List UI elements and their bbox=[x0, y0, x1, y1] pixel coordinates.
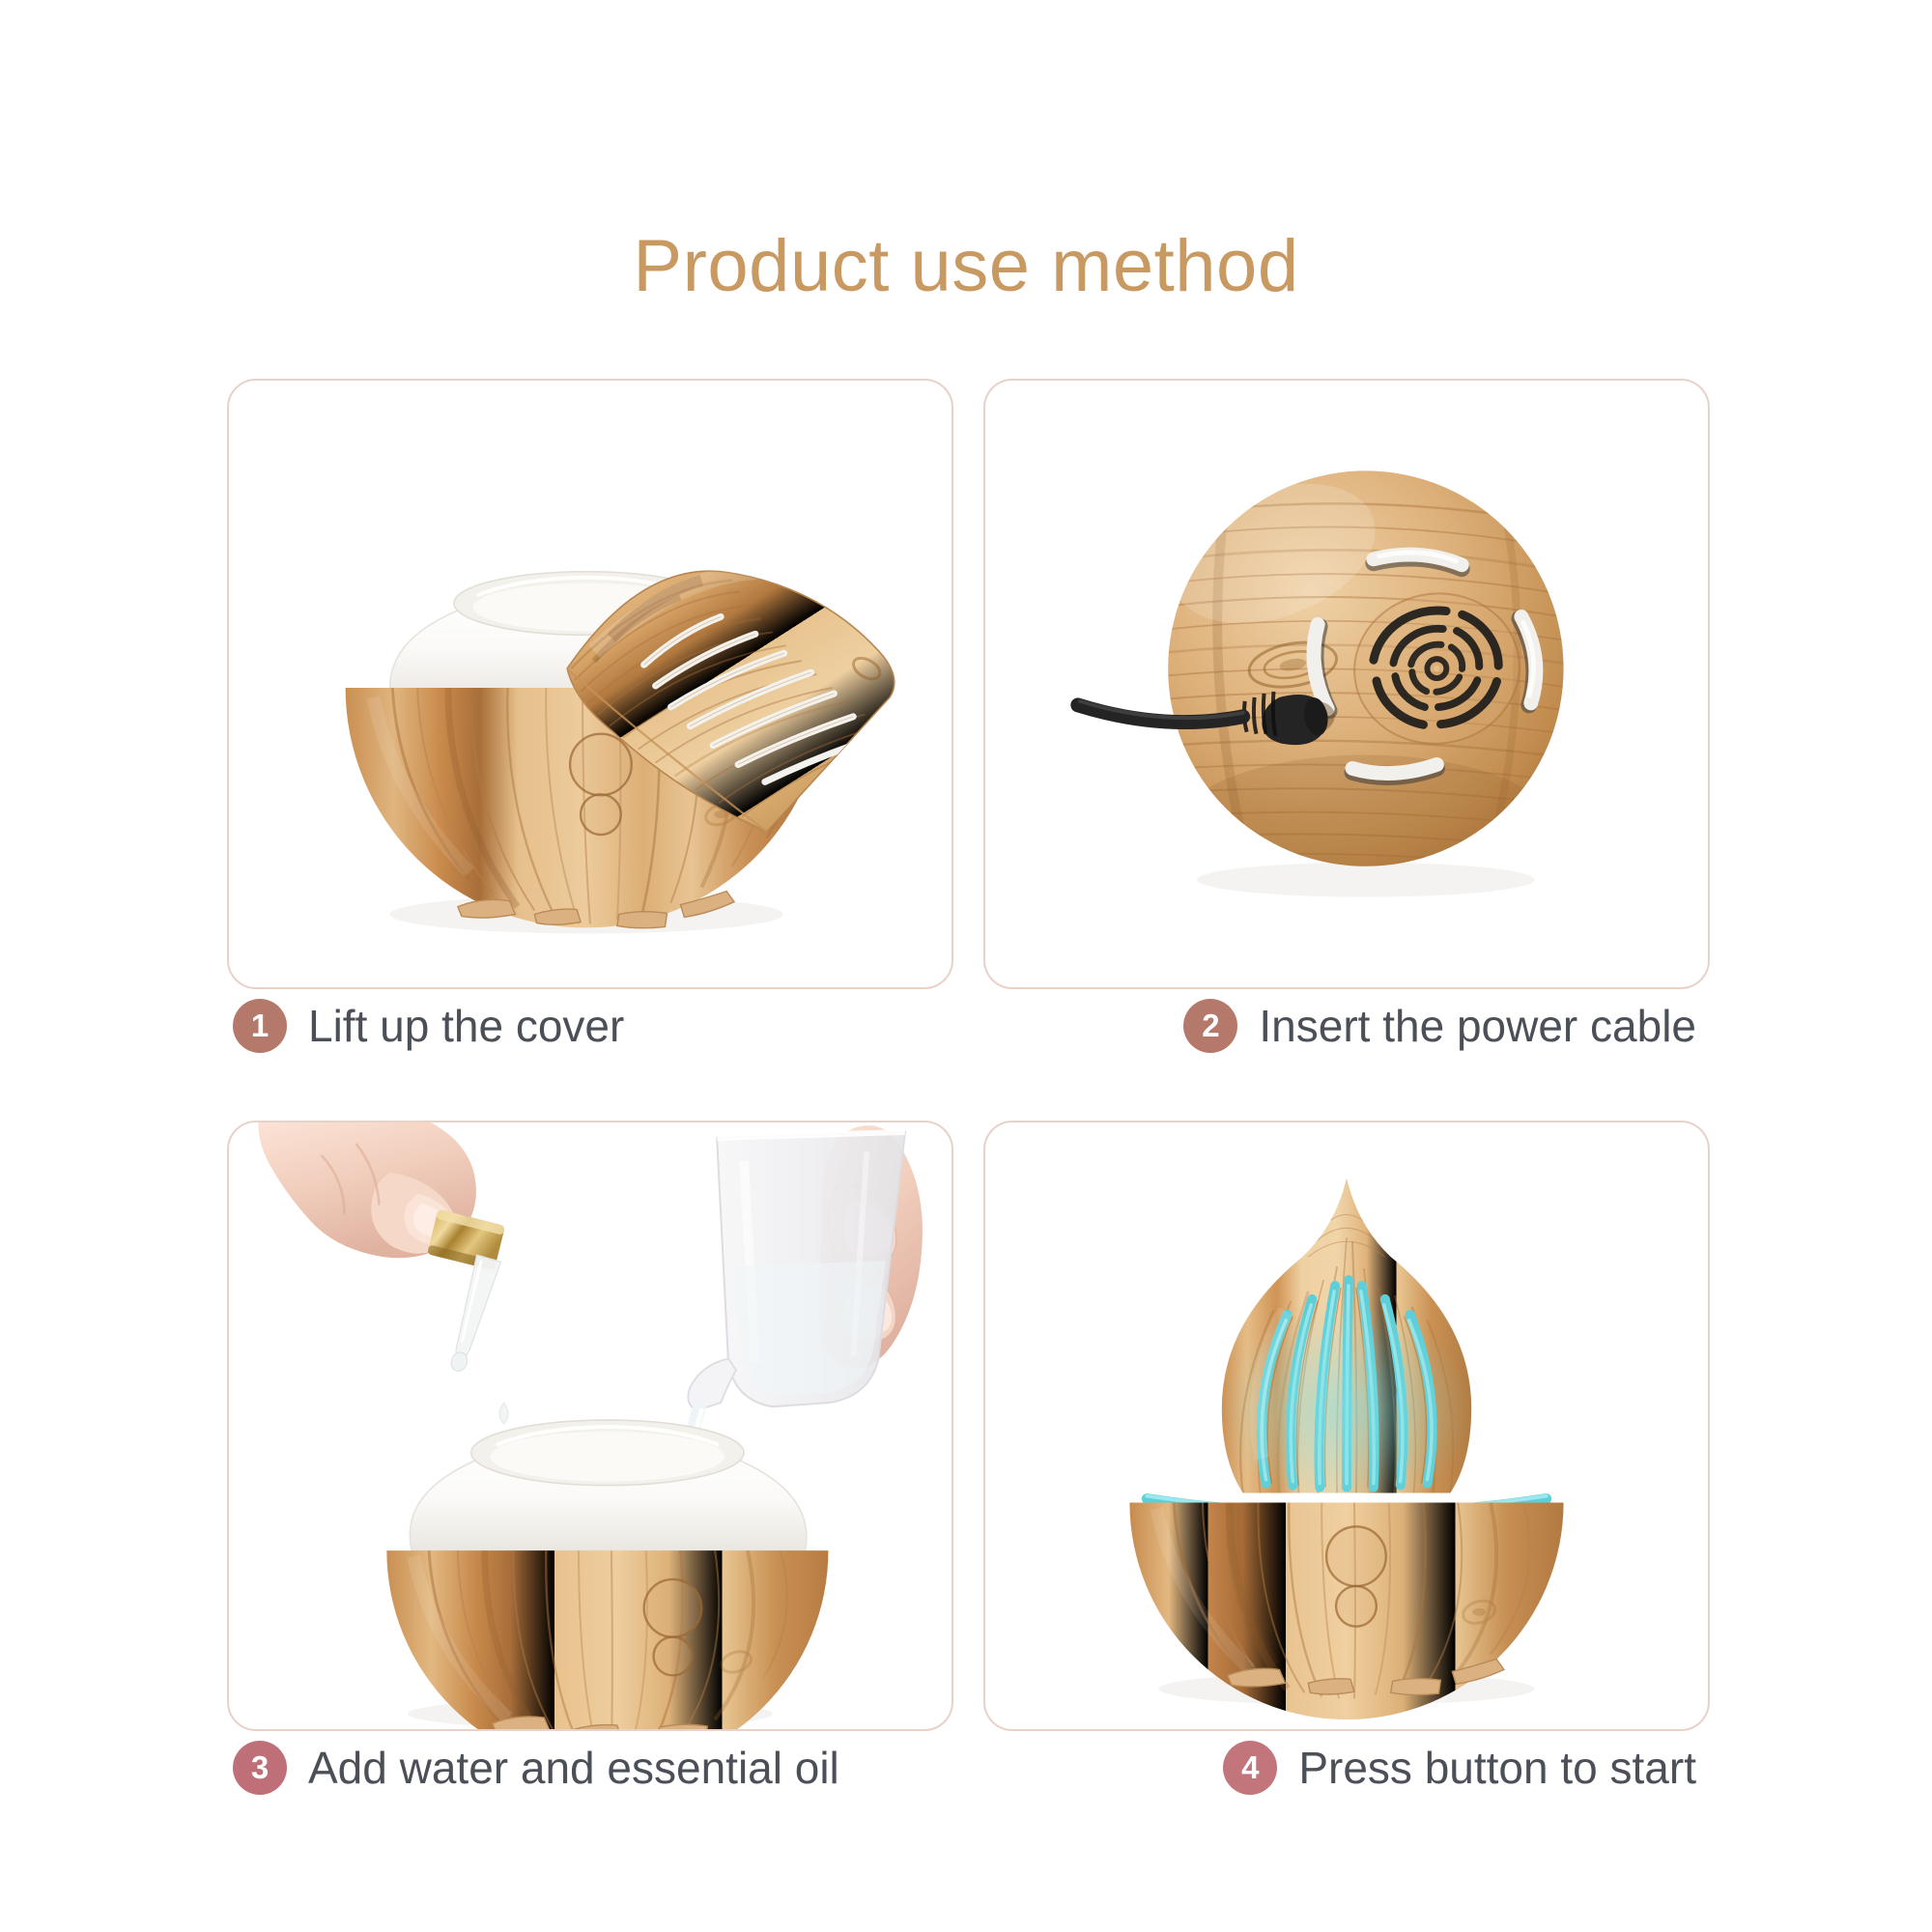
product-instruction-graphic: Product use method bbox=[0, 0, 1932, 1932]
step-label-3: Add water and essential oil bbox=[308, 1742, 839, 1794]
step-label-4: Press button to start bbox=[1298, 1742, 1696, 1794]
adding-water-and-oil-image bbox=[229, 1122, 952, 1729]
step-panel-4 bbox=[983, 1121, 1710, 1731]
step-cell-3: 3 Add water and essential oil bbox=[227, 1121, 953, 1799]
diffuser-base-with-lid-removed-image bbox=[229, 381, 952, 987]
step-label-1: Lift up the cover bbox=[308, 1000, 624, 1052]
diffuser-underside-with-power-cable-image bbox=[985, 381, 1708, 987]
step-badge-2: 2 bbox=[1183, 999, 1237, 1053]
step-caption-4: 4 Press button to start bbox=[1223, 1741, 1696, 1795]
hand-with-dropper bbox=[258, 1122, 508, 1445]
step-caption-2: 2 Insert the power cable bbox=[1183, 999, 1696, 1053]
step-cell-1: 1 Lift up the cover bbox=[227, 379, 953, 1057]
step-cell-2: 2 Insert the power cable bbox=[983, 379, 1710, 1057]
step-cell-4: 4 Press button to start bbox=[983, 1121, 1710, 1799]
step-panel-3 bbox=[227, 1121, 953, 1731]
steps-grid: 1 Lift up the cover bbox=[227, 379, 1710, 1799]
step-caption-3: 3 Add water and essential oil bbox=[233, 1741, 839, 1795]
step-badge-1: 1 bbox=[233, 999, 287, 1053]
step-badge-4: 4 bbox=[1223, 1741, 1277, 1795]
step-badge-3: 3 bbox=[233, 1741, 287, 1795]
step-caption-1: 1 Lift up the cover bbox=[233, 999, 624, 1053]
step-panel-1 bbox=[227, 379, 953, 989]
diffuser-assembled-and-lit-image bbox=[985, 1122, 1708, 1729]
step-label-2: Insert the power cable bbox=[1259, 1000, 1696, 1052]
page-title: Product use method bbox=[0, 224, 1932, 308]
step-panel-2 bbox=[983, 379, 1710, 989]
